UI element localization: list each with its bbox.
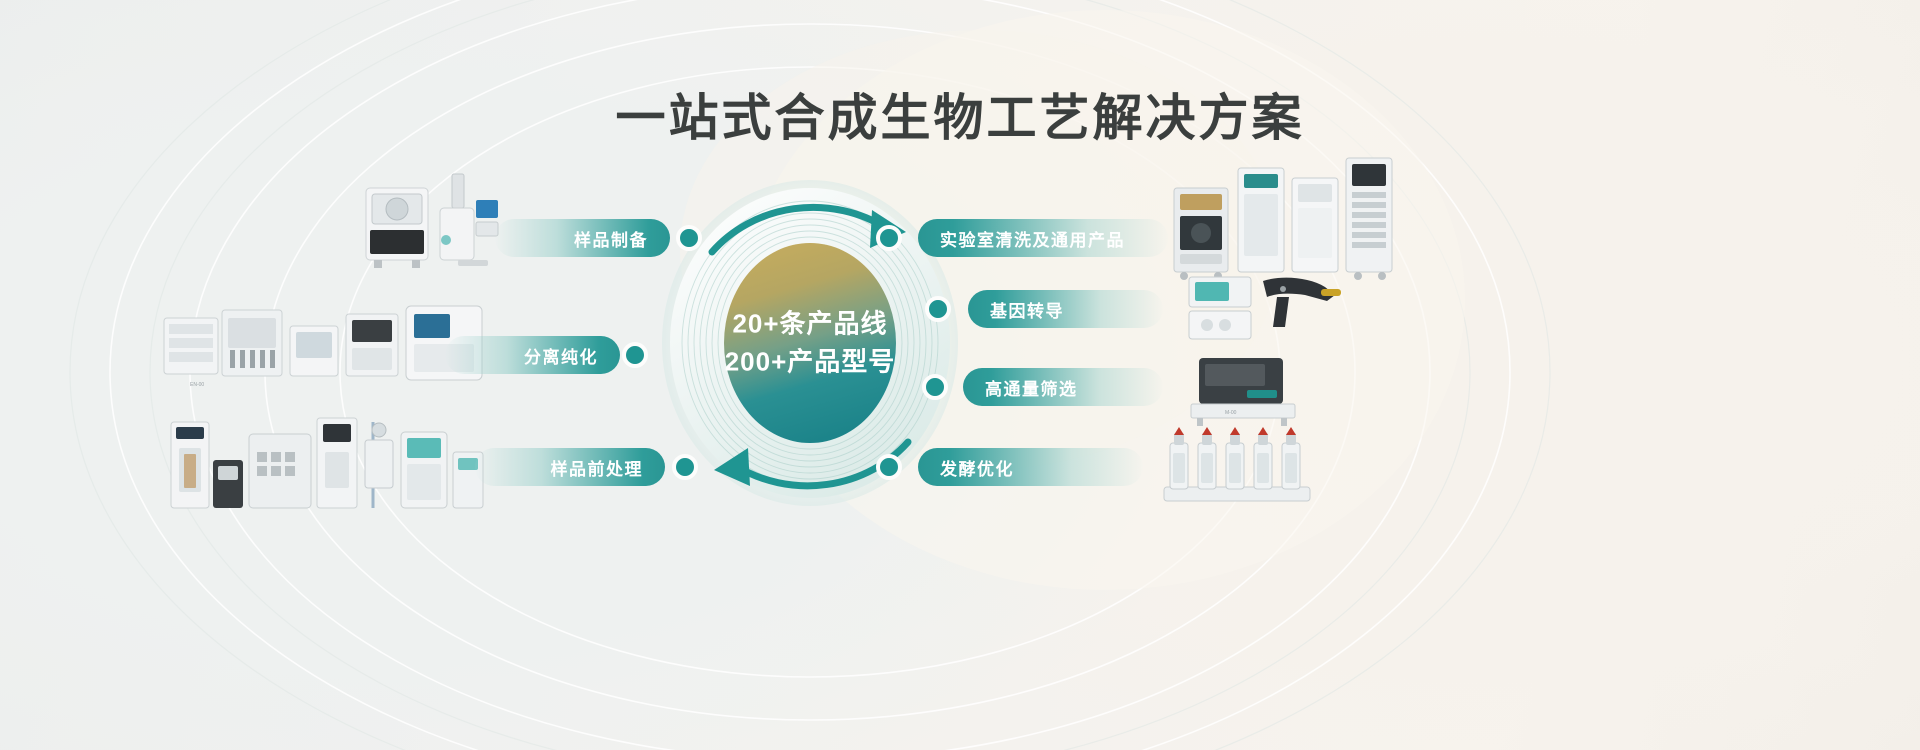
process-label-separation-purification[interactable]: 分离纯化 xyxy=(445,336,620,374)
page-title: 一站式合成生物工艺解决方案 xyxy=(0,78,1920,150)
connector-dot-separation-purification[interactable] xyxy=(622,342,648,368)
process-label-fermentation-optimization[interactable]: 发酵优化 xyxy=(918,448,1143,486)
equipment-right-upper-mid xyxy=(1185,275,1350,343)
equipment-right-lower-mid: M-00 xyxy=(1185,356,1310,428)
autoclave-and-washer-cabinets-photo xyxy=(1168,150,1398,280)
connector-dot-gene-transduction[interactable] xyxy=(925,296,951,322)
equipment-left-bottom xyxy=(165,412,490,522)
connector-dot-high-throughput-screening[interactable] xyxy=(922,374,948,400)
homogenizer-and-reactor-systems-photo xyxy=(165,412,490,522)
equipment-right-top xyxy=(1168,150,1398,280)
process-label-gene-transduction[interactable]: 基因转导 xyxy=(968,290,1163,328)
process-label-text: 分离纯化 xyxy=(524,343,598,368)
process-label-text: 样品前处理 xyxy=(551,455,644,480)
process-label-lab-cleaning-general-products[interactable]: 实验室清洗及通用产品 xyxy=(918,219,1168,257)
infographic-canvas: 一站式合成生物工艺解决方案 xyxy=(0,0,1920,750)
connector-dot-sample-preparation[interactable] xyxy=(676,225,702,251)
connector-dot-fermentation-optimization[interactable] xyxy=(876,454,902,480)
process-label-text: 实验室清洗及通用产品 xyxy=(940,226,1125,251)
svg-text:M-00: M-00 xyxy=(1225,410,1237,416)
electroporator-and-gene-gun-photo xyxy=(1185,275,1350,343)
connector-dot-sample-pretreatment[interactable] xyxy=(672,454,698,480)
microplate-reader-photo: M-00 xyxy=(1185,356,1310,428)
process-label-text: 高通量筛选 xyxy=(985,375,1078,400)
chromatography-purification-systems-photo: EN-00 xyxy=(160,300,490,392)
process-label-text: 基因转导 xyxy=(990,297,1064,322)
parallel-bioreactor-array-photo xyxy=(1160,425,1315,507)
equipment-right-bottom xyxy=(1160,425,1315,507)
process-label-text: 样品制备 xyxy=(574,226,648,251)
svg-text:EN-00: EN-00 xyxy=(190,382,204,388)
process-label-sample-pretreatment[interactable]: 样品前处理 xyxy=(475,448,665,486)
clockwise-arrow-top xyxy=(712,207,906,252)
equipment-left-middle: EN-00 xyxy=(160,300,490,392)
connector-dot-lab-cleaning-general-products[interactable] xyxy=(876,225,902,251)
process-label-text: 发酵优化 xyxy=(940,455,1014,480)
process-label-sample-preparation[interactable]: 样品制备 xyxy=(495,219,670,257)
process-label-high-throughput-screening[interactable]: 高通量筛选 xyxy=(963,368,1163,406)
